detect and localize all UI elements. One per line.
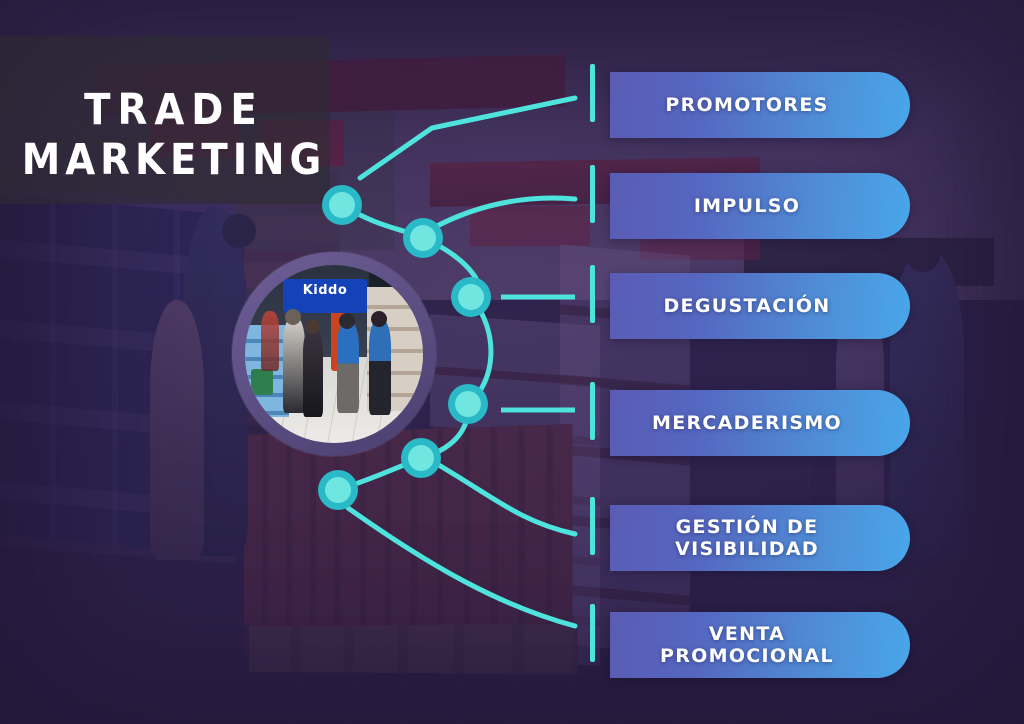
pill-item-4[interactable]: MERCADERISMO [610,390,910,456]
pill-item-1[interactable]: PROMOTORES [610,72,910,138]
tick-bar-4 [590,382,595,440]
pill-label-3: DEGUSTACIÓN [663,295,856,317]
tick-bar-3 [590,265,595,323]
pill-label-1: PROMOTORES [665,94,854,116]
tick-bar-2 [590,165,595,223]
connector-dot [401,438,441,478]
connector-dot [322,185,362,225]
pill-item-5[interactable]: GESTIÓN DE VISIBILIDAD [610,505,910,571]
pill-item-2[interactable]: IMPULSO [610,173,910,239]
pill-label-6: VENTA PROMOCIONAL [660,623,860,668]
connector-dot [451,277,491,317]
branch-promotores [360,98,575,178]
pill-label-5: GESTIÓN DE VISIBILIDAD [675,516,845,561]
connector-dot [318,470,358,510]
connector-dot [448,384,488,424]
infographic-canvas: TRADE MARKETING Kiddo [0,0,1024,724]
pill-item-3[interactable]: DEGUSTACIÓN [610,273,910,339]
connector-dot [403,218,443,258]
tick-bar-5 [590,497,595,555]
branch-venta [437,464,575,534]
pill-label-4: MERCADERISMO [652,412,868,434]
tick-bar-6 [590,604,595,662]
pill-label-2: IMPULSO [694,195,826,217]
branch-impulso [437,198,575,226]
tick-bar-1 [590,64,595,122]
pill-item-6[interactable]: VENTA PROMOCIONAL [610,612,910,678]
